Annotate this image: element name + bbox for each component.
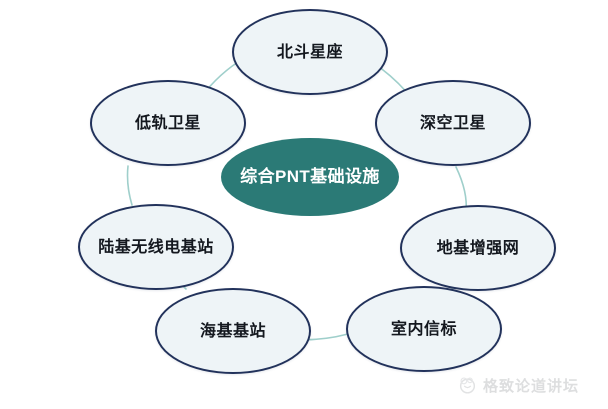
node-center-hub-label: 综合PNT基础设施 [226,165,394,188]
node-leo-satellite-label: 低轨卫星 [125,112,211,133]
node-ground-augmentation-label: 地基增强网 [427,237,530,258]
node-sea-station-label: 海基基站 [190,320,276,341]
node-land-radio-station[interactable]: 陆基无线电基站 [78,204,234,290]
node-indoor-beacon[interactable]: 室内信标 [346,286,502,372]
diagram-canvas: 北斗星座 深空卫星 地基增强网 室内信标 海基基站 陆基无线电基站 低轨卫星 综… [0,0,608,409]
node-beidou[interactable]: 北斗星座 [232,9,388,95]
node-center-hub[interactable]: 综合PNT基础设施 [221,138,399,216]
node-deep-space[interactable]: 深空卫星 [375,80,531,166]
node-beidou-label: 北斗星座 [267,41,353,62]
watermark: 格致论道讲坛 [458,375,579,396]
watermark-text: 格致论道讲坛 [483,375,579,396]
node-leo-satellite[interactable]: 低轨卫星 [90,80,246,166]
node-land-radio-station-label: 陆基无线电基站 [88,236,224,257]
node-sea-station[interactable]: 海基基站 [155,288,311,374]
node-indoor-beacon-label: 室内信标 [381,318,467,339]
node-ground-augmentation[interactable]: 地基增强网 [400,205,556,291]
node-layer: 北斗星座 深空卫星 地基增强网 室内信标 海基基站 陆基无线电基站 低轨卫星 综… [0,0,608,409]
circular-logo-icon [458,376,477,395]
node-deep-space-label: 深空卫星 [410,112,496,133]
